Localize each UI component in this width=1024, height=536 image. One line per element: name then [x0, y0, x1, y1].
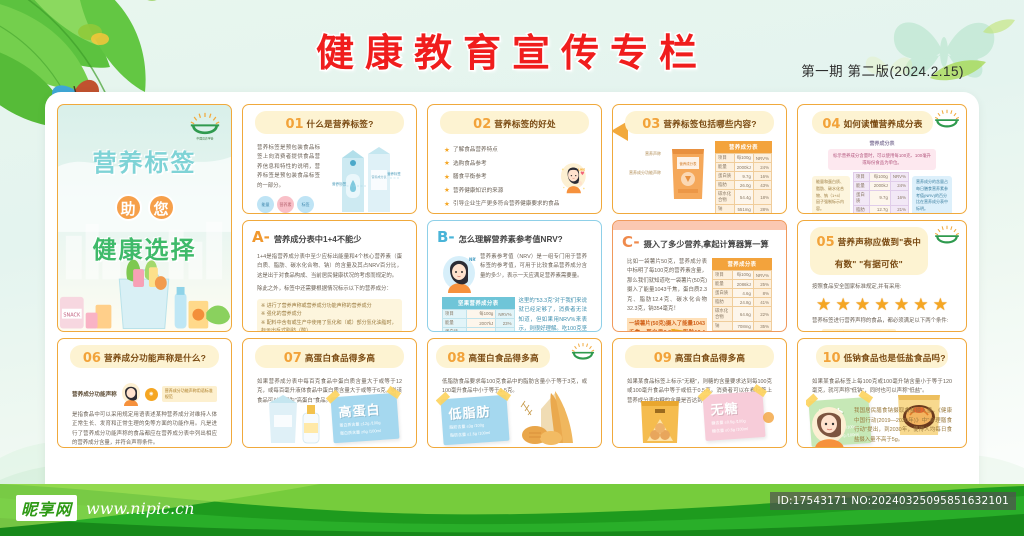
svg-text:NRV: NRV — [469, 257, 476, 262]
panel-B-body: NRV 营养素参考值（NRV）是一组专门用于营养标签的参考值，可用于比较食品营养… — [436, 248, 593, 332]
panel-04-nutrition-table: 项目每100gNRV% 能量2000kJ24% 蛋白质9.7g16% 脂肪12.… — [853, 172, 909, 213]
panel-A-text: 1+4是指营养成分表中至少应标出能量和4个核心营养素（蛋白质、脂肪、碳水化合物、… — [257, 253, 402, 281]
panel-B-heading: B- 怎么理解营养素参考值NRV? — [428, 221, 601, 248]
panel-08[interactable]: 08高蛋白食品得多高 低脂肪食品要求每100克食品中的脂肪含量小于等于3克，或1… — [427, 338, 602, 448]
star-icon: ★ — [855, 296, 870, 313]
issue-subtitle: 第一期 第二版(2024.2.15) — [801, 60, 964, 80]
panel-02-body: 了解食品营养特点 选购食品参考 膳食平衡参考 营养健康知识的来源 引导企业生产更… — [436, 139, 593, 213]
panel-06-number: 06 — [83, 351, 101, 366]
table-row: 项目每100gNRV% — [443, 310, 515, 319]
table-caption: 营养成分表 — [712, 258, 772, 270]
table-row: 碳水化合物54.4g18% — [716, 190, 772, 205]
panel-01[interactable]: 01什么是营养标签? 营养标签是预包装食品标签上向消费者提供食品营养信息和特性的… — [242, 104, 417, 214]
panel-C-letter: C- — [622, 233, 640, 251]
panel-C-title: 摄入了多少营养,拿起计算器算一算 — [644, 238, 769, 250]
panel-A-note-2: ※ 配料中含有或生产中使用了氢化和（或）部分氢化油脂时，标示出反式脂肪（酸） — [261, 319, 398, 332]
poster-board: 中国营养学会 营养标签 助您 健康选择 — [45, 92, 979, 490]
panel-06-chip: 营养成分功能声称用语标准规范 — [162, 386, 217, 402]
panel-06-label: 营养成分功能声称 — [72, 390, 117, 398]
page-title: 健康教育宣传专栏 — [316, 22, 708, 77]
panel-05-number: 05 — [817, 235, 835, 250]
table-row: 脂肪26.0g43% — [716, 181, 772, 190]
china-nutrition-society-logo — [933, 225, 961, 250]
panel-A-note-1: ※ 强化的营养成分 — [261, 310, 398, 319]
panel-01-title: 什么是营养标签? — [307, 119, 374, 129]
panel-05-heading: 05营养声称应做到"表中有数" "有据可依" — [810, 227, 928, 275]
panel-C-nutrition-table: 营养成分表 项目每100gNRV% 能量2086kJ25% 蛋白质4.6g8% … — [712, 258, 772, 331]
brand-url[interactable]: www.nipic.cn — [86, 499, 194, 518]
panel-03[interactable]: 03营养标签包括哪些内容? 营养声称 营养成分功能声称 营养成分表 — [612, 104, 787, 214]
panel-09-body: 如果某食品标签上标示"无糖"，则糖的含量要求达到每100克或100毫升食品中等于… — [621, 373, 778, 447]
orange-dot-decoration — [763, 412, 774, 423]
panel-A-text-2: 除此之外，标签中还需要根据情况标示以下的营养成分： — [257, 285, 402, 294]
panel-08-badge: 低脂肪 脂肪含量 ≤3g /100g 脂肪含量 ≤1.5g /100ml — [440, 395, 509, 445]
panel-07[interactable]: 07高蛋白食品得多高 如果营养成分表中每百克食品中蛋白质含量大于或等于12克，或… — [242, 338, 417, 448]
panel-03-nutrition-table: 营养成分表 项目每100gNRV% 能量2000kJ24% 蛋白质9.7g16%… — [715, 141, 772, 213]
panel-A-heading: A- 营养成分表中1+4不能少 — [243, 221, 416, 248]
panel-09-title: 高蛋白食品得多高 — [675, 353, 745, 363]
bread-illustration — [515, 389, 583, 445]
panel-09-number: 09 — [654, 351, 672, 366]
girl-salt-illustration — [810, 405, 850, 447]
panel-B-letter: B- — [437, 228, 455, 246]
image-id-badge: ID:17543171 NO:20240325095851632101 — [770, 492, 1016, 510]
hero-line-1: 营养标签 — [58, 143, 231, 178]
panel-06-body: 营养成分功能声称 ◉ 营养成分功能声称用语标准规范 是指食品中可以采用规定用语表… — [66, 373, 223, 447]
svg-text:LIKE: LIKE — [578, 167, 585, 171]
panel-10-number: 10 — [822, 351, 840, 366]
star-icon: ★ — [874, 296, 889, 313]
table-row: 蛋白质9.7g16% — [854, 190, 909, 205]
panel-02-number: 02 — [473, 117, 491, 132]
panel-06-text: 是指食品中可以采用规定用语表述某种营养成分对维持人体正常生长、发育和正常生理的免… — [72, 411, 217, 447]
badge-sub-1: 糖含量 ≤0.5g /100ml — [712, 425, 758, 434]
table-row: 蛋白质4.6g8% — [713, 289, 772, 298]
table-row: 项目每100gNRV% — [854, 172, 909, 181]
panel-07-number: 07 — [284, 351, 302, 366]
panel-06-title: 营养成分功能声称是什么? — [104, 353, 206, 363]
list-item: 营养健康知识的来源 — [444, 187, 559, 195]
svg-text:营养标签: 营养标签 — [332, 181, 347, 186]
table-row: 钠708mg35% — [713, 322, 772, 331]
table-row: 能量2007kJ23% — [443, 319, 515, 328]
panel-03-label-0: 营养声称 — [627, 151, 661, 157]
star-icon: ★ — [835, 296, 850, 313]
star-icon: ★ — [816, 296, 831, 313]
star-icon: ★ — [894, 296, 909, 313]
panel-01-heading: 01什么是营养标签? — [255, 111, 404, 134]
panel-C-body: 比如一袋薯片50克，营养成分表中标明了每100克的营养素含量，那么我们就知道吃一… — [621, 253, 778, 332]
panel-04[interactable]: 04如何读懂营养成分表 营养成分表 标示营养成分含量时，可以使用每100克、10… — [797, 104, 967, 214]
condition-text: 在营养成分表中标示相应的营养成分含量 — [822, 329, 896, 332]
grocery-bag-illustration: SNACK — [58, 239, 231, 331]
panel-02-benefit-list: 了解食品营养特点 选购食品参考 膳食平衡参考 营养健康知识的来源 引导企业生产更… — [442, 144, 559, 208]
panel-A-title: 营养成分表中1+4不能少 — [274, 233, 362, 245]
panel-01-chip-0: 能量 — [257, 196, 274, 213]
panel-02-title: 营养标签的好处 — [494, 119, 556, 129]
panel-A-note-0: ※ 进行了营养声称或营养成分功能声称的营养成分 — [261, 302, 398, 311]
panel-04-note-top: 标示营养成分含量时，可以使用每100克、100毫升或每份食品为单位。 — [828, 149, 936, 170]
list-item: 选购食品参考 — [444, 160, 559, 168]
panel-08-body: 低脂肪食品要求每100克食品中的脂肪含量小于等于3克，或100毫升食品中小于等于… — [436, 373, 593, 447]
panel-05-stars: ★★★★★★★ — [812, 293, 952, 317]
panel-03-number: 03 — [642, 117, 660, 132]
calculator-chips-illustration — [625, 325, 717, 332]
panel-05-mid-text: 营养标签进行营养声称的食品，都必须满足以下两个条件: — [812, 317, 952, 326]
table-row: 能量2000kJ24% — [854, 181, 909, 190]
china-nutrition-society-logo — [933, 109, 961, 134]
svg-text:营养成分表: 营养成分表 — [680, 161, 698, 166]
panel-02-heading: 02营养标签的好处 — [440, 111, 589, 134]
list-item: 膳食平衡参考 — [444, 173, 559, 181]
table-row: 蛋白质25.4g42% — [443, 328, 515, 333]
star-icon: ★ — [933, 296, 948, 313]
svg-text:营养成分表: 营养成分表 — [371, 174, 386, 179]
panel-03-body: 营养声称 营养成分功能声称 营养成分表 营养成分表 — [621, 139, 778, 213]
panel-01-chip-1: 营养素 — [277, 196, 294, 213]
cookie-bag-illustration — [633, 393, 689, 445]
table-row: 蛋白质9.7g16% — [716, 172, 772, 181]
milk-carton-illustration: 营养成分表 营养标签 营养标签 — [324, 144, 402, 213]
panel-B[interactable]: B- 怎么理解营养素参考值NRV? NRV 营养素参考值（NRV）是一组专门用于… — [427, 220, 602, 332]
girl-avatar-illustration — [121, 382, 141, 406]
panel-A-body: 1+4是指营养成分表中至少应标出能量和4个核心营养素（蛋白质、脂肪、碳水化合物、… — [251, 248, 408, 332]
table-row: 能量2086kJ25% — [713, 280, 772, 289]
speaker-icon: ◉ — [145, 388, 158, 401]
panel-C-text: 比如一袋薯片50克，营养成分表中标明了每100克的营养素含量，那么我们就知道吃一… — [627, 258, 707, 315]
list-item: 引导企业生产更多符合营养健康要求的食品 — [444, 200, 559, 208]
panel-08-title: 高蛋白食品得多高 — [468, 353, 538, 363]
panel-05[interactable]: 05营养声称应做到"表中有数" "有据可依" 按照食品安全国家标准规定,并有采用… — [797, 220, 967, 332]
brand-logo: 昵享网 — [16, 495, 77, 521]
snack-bag-illustration: 营养成分表 — [666, 141, 710, 201]
site-footer: 昵享网 www.nipic.cn xxxxxxxxxxxxxxxxxxxxxxx… — [0, 484, 1024, 536]
table-row: 脂肪24.8g41% — [713, 298, 772, 307]
table-row: 能量2000kJ24% — [716, 163, 772, 172]
list-item: 了解食品营养特点 — [444, 146, 559, 154]
panel-01-chip-2: 标签 — [297, 196, 314, 213]
panel-04-table-caption: 营养成分表 — [812, 140, 952, 147]
panel-B-text: 营养素参考值（NRV）是一组专门用于营养标签的参考值，可用于比较食品营养成分含量… — [480, 253, 587, 281]
table-caption: 坚果营养成分表 — [442, 297, 515, 309]
panel-A-letter: A- — [252, 228, 270, 246]
svg-text:SNACK: SNACK — [63, 313, 81, 319]
panel-B-nutrition-table: 坚果营养成分表 项目每100gNRV% 能量2007kJ23% 蛋白质25.4g… — [442, 297, 515, 332]
panel-C[interactable]: C- 摄入了多少营养,拿起计算器算一算 比如一袋薯片50克，营养成分表中标明了每… — [612, 220, 787, 332]
hero-panel: 中国营养学会 营养标签 助您 健康选择 — [57, 104, 232, 332]
panel-04-number: 04 — [822, 117, 840, 132]
panel-B-title: 怎么理解营养素参考值NRV? — [459, 233, 563, 245]
panel-03-heading: 03营养标签包括哪些内容? — [625, 111, 774, 134]
panel-07-title: 高蛋白食品得多高 — [305, 353, 375, 363]
badge-sub-1: 蛋白质含量 ≥6g /100ml — [340, 427, 392, 437]
panel-10-title: 低钠食品也是低盐食品吗? — [844, 353, 946, 363]
table-row: 碳水化合物64.6g22% — [713, 307, 772, 322]
table-row: 脂肪12.7g21% — [854, 205, 909, 213]
hero-line-2: 助您 — [58, 185, 231, 222]
panel-09-badge: 无糖 糖含量 ≤0.5g /100g 糖含量 ≤0.5g /100ml — [702, 391, 765, 441]
panel-08-heading: 08高蛋白食品得多高 — [436, 345, 550, 368]
panel-08-number: 08 — [447, 351, 465, 366]
panel-06[interactable]: 06营养成分功能声称是什么? 营养成分功能声称 ◉ 营养成分功能声称用语标准规范… — [57, 338, 232, 448]
badge-sub-1: 脂肪含量 ≤1.5g /100ml — [450, 429, 502, 439]
table-row: 项目每100gNRV% — [713, 271, 772, 280]
panel-04-title: 如何读懂营养成分表 — [843, 119, 922, 129]
panel-10[interactable]: 10低钠食品也是低盐食品吗? 如果某食品标签上每100克或100毫升钠含量小于等… — [797, 338, 967, 448]
panel-01-body: 营养标签是预包装食品标签上向消费者提供食品营养信息和特性的说明，营养标签是预包装… — [251, 139, 408, 213]
site-brand[interactable]: 昵享网 www.nipic.cn — [16, 495, 194, 521]
girl-nrv-illustration: NRV — [442, 253, 476, 293]
panel-09-heading: 09高蛋白食品得多高 — [625, 345, 774, 368]
panel-grid: 中国营养学会 营养标签 助您 健康选择 — [45, 92, 979, 490]
page-header: 健康教育宣传专栏 第一期 第二版(2024.2.15) — [0, 22, 1024, 77]
star-icon: ★ — [913, 296, 928, 313]
panel-10-heading: 10低钠食品也是低盐食品吗? — [816, 345, 947, 368]
svg-text:营养标签: 营养标签 — [387, 171, 401, 176]
panel-B-side-text: 这里的"53.3克"对于我们来说就已经足够了，消费者无法知道，但如果用NRV%来… — [519, 297, 588, 332]
panel-05-title: 营养声称应做到"表中有数" "有据可依" — [835, 237, 921, 269]
panel-07-heading: 07高蛋白食品得多高 — [255, 345, 404, 368]
panel-04-heading: 04如何读懂营养成分表 — [812, 111, 933, 134]
panel-04-body: 营养成分表 标示营养成分含量时，可以使用每100克、100毫升或每份食品为单位。… — [806, 139, 958, 213]
panel-07-body: 如果营养成分表中每百克食品中蛋白质含量大于或等于12克，或每百毫升液体食品中蛋白… — [251, 373, 408, 447]
panel-04-note-left: 能量和蛋白质、脂肪、碳水化合物、钠（1+4）因子强制标示内容。 — [812, 176, 850, 213]
badge-text: 低脂肪 — [448, 400, 501, 423]
panel-09[interactable]: 09高蛋白食品得多高 如果某食品标签上标示"无糖"，则糖的含量要求达到每100克… — [612, 338, 787, 448]
table-row: 项目每100gNRV% — [716, 154, 772, 163]
girl-with-like-illustration: LIKE — [559, 140, 587, 213]
panel-05-intro: 按照食品安全国家标准规定,并有采用: — [812, 283, 952, 292]
badge-text: 无糖 — [710, 396, 757, 418]
panel-04-note-right: 营养成分的含量占每日膳食营养素参考值(NRV)的百分比在营养成分表中标明。 — [912, 176, 952, 213]
panel-02[interactable]: 02营养标签的好处 了解食品营养特点 选购食品参考 膳食平衡参考 营养健康知识的… — [427, 104, 602, 214]
china-nutrition-society-logo — [570, 342, 596, 366]
hero-badge-char-2: 您 — [148, 194, 175, 221]
panel-A[interactable]: A- 营养成分表中1+4不能少 1+4是指营养成分表中至少应标出能量和4个核心营… — [242, 220, 417, 332]
badge-text: 高蛋白 — [338, 398, 391, 421]
table-caption: 营养成分表 — [715, 141, 772, 153]
panel-10-body: 如果某食品标签上每100克或100毫升钠含量小于等于120毫克，就可声称"低钠"… — [806, 373, 958, 447]
panel-05-condition-1: 1 在营养成分表中标示相应的营养成分含量 = 表中有数 — [812, 329, 952, 332]
milk-products-illustration — [263, 391, 327, 445]
hero-badge-char-1: 助 — [115, 194, 142, 221]
panel-03-label-1: 营养成分功能声称 — [627, 170, 661, 176]
table-row: 钠551mg28% — [716, 205, 772, 214]
panel-03-title: 营养标签包括哪些内容? — [663, 119, 756, 129]
panel-07-badge: 高蛋白 蛋白质含量 ≥12g /100g 蛋白质含量 ≥6g /100ml — [330, 393, 399, 443]
panel-06-heading: 06营养成分功能声称是什么? — [70, 345, 219, 368]
panel-01-text: 营养标签是预包装食品标签上向消费者提供食品营养信息和特性的说明，营养标签是预包装… — [257, 144, 320, 191]
panel-01-number: 01 — [285, 117, 303, 132]
panel-05-body: 按照食品安全国家标准规定,并有采用: ★★★★★★★ 营养标签进行营养声称的食品… — [806, 280, 958, 332]
panel-10-note: 我国居民膳食钠摄取食盐摄入量，《健康中国行动(2019—2030年)》中"合理膳… — [854, 407, 952, 445]
